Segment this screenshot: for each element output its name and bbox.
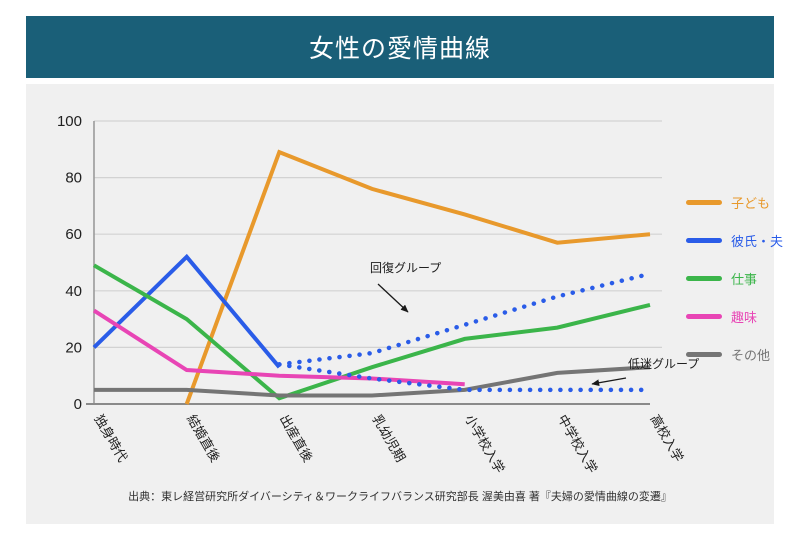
y-tick-label: 0 — [74, 396, 82, 413]
chart-panel: 020406080100 独身時代結婚直後出産直後乳幼児期小学校入学中学校入学高… — [26, 84, 774, 524]
legend-label: 仕事 — [731, 269, 757, 288]
legend-swatch-icon — [686, 200, 722, 205]
y-tick-label: 60 — [65, 226, 82, 243]
series-line-その他 — [94, 367, 650, 395]
legend-label: 彼氏・夫 — [731, 231, 783, 250]
legend-item-趣味[interactable]: 趣味 — [686, 308, 800, 324]
x-tick-labels: 独身時代結婚直後出産直後乳幼児期小学校入学中学校入学高校入学 — [91, 412, 686, 476]
legend-item-その他[interactable]: その他 — [686, 346, 800, 362]
x-tick-label: 結婚直後 — [184, 412, 223, 465]
series-layer — [94, 152, 650, 404]
x-tick-label: 出産直後 — [277, 412, 316, 465]
annotation-layer: 回復グループ 低迷グループ — [370, 260, 699, 384]
legend-item-子ども[interactable]: 子ども — [686, 194, 800, 210]
slide-root: 女性の愛情曲線 020406080100 独身時代結婚直後出産直後乳幼児期小学校… — [0, 0, 800, 540]
legend-label: 趣味 — [731, 307, 757, 326]
legend-label: 子ども — [731, 193, 770, 212]
series-line-子ども — [187, 152, 650, 404]
legend-swatch-icon — [686, 314, 722, 319]
plot-area: 020406080100 独身時代結婚直後出産直後乳幼児期小学校入学中学校入学高… — [26, 84, 774, 524]
x-tick-label: 高校入学 — [647, 412, 686, 465]
series-line-彼氏・夫 — [94, 257, 279, 367]
slump-group-arrow — [592, 378, 626, 384]
x-tick-label: 中学校入学 — [555, 412, 600, 476]
y-tick-labels: 020406080100 — [57, 113, 82, 413]
legend-swatch-icon — [686, 276, 722, 281]
legend-swatch-icon — [686, 352, 722, 357]
title-bar: 女性の愛情曲線 — [26, 16, 774, 78]
source-note: 出典：東レ経営研究所ダイバーシティ＆ワークライフバランス研究部長 渥美由喜 著『… — [0, 488, 800, 504]
legend-swatch-icon — [686, 238, 722, 243]
legend-label: その他 — [731, 345, 770, 364]
recovery-group-arrow — [378, 284, 408, 312]
recovery-group-label: 回復グループ — [370, 260, 441, 275]
line-chart: 020406080100 独身時代結婚直後出産直後乳幼児期小学校入学中学校入学高… — [26, 84, 774, 524]
page-title: 女性の愛情曲線 — [309, 29, 491, 65]
y-tick-label: 20 — [65, 339, 82, 356]
y-tick-label: 100 — [57, 113, 82, 130]
legend-item-彼氏・夫[interactable]: 彼氏・夫 — [686, 232, 800, 248]
y-tick-label: 80 — [65, 170, 82, 187]
x-tick-label: 独身時代 — [91, 412, 130, 465]
chart-legend: 子ども彼氏・夫仕事趣味その他 — [686, 194, 800, 362]
legend-item-仕事[interactable]: 仕事 — [686, 270, 800, 286]
x-tick-label: 乳幼児期 — [369, 412, 408, 465]
x-tick-label: 小学校入学 — [462, 412, 507, 476]
y-tick-label: 40 — [65, 283, 82, 300]
